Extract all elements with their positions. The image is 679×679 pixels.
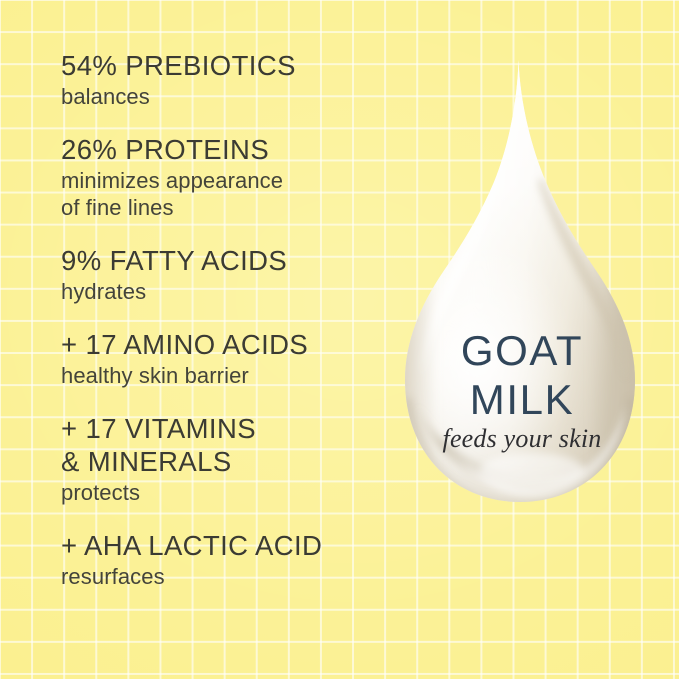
milk-droplet-graphic: GOAT MILK feeds your skin — [392, 58, 652, 550]
ingredient-title: 9% FATTY ACIDS — [61, 244, 381, 277]
ingredient-description: balances — [61, 83, 381, 110]
ingredient-title: + 17 VITAMINS & MINERALS — [61, 412, 381, 478]
ingredient-title: 54% PREBIOTICS — [61, 49, 381, 82]
ingredient-list: 54% PREBIOTICS balances 26% PROTEINS min… — [61, 49, 381, 590]
droplet-lower-glare — [480, 453, 584, 487]
ingredient-description: protects — [61, 479, 381, 506]
ingredient-title: + AHA LACTIC ACID — [61, 529, 381, 562]
ingredient-description: minimizes appearance of fine lines — [61, 167, 381, 221]
list-item: + 17 AMINO ACIDS healthy skin barrier — [61, 328, 381, 389]
poster-canvas: 54% PREBIOTICS balances 26% PROTEINS min… — [0, 0, 679, 679]
ingredient-description: healthy skin barrier — [61, 362, 381, 389]
list-item: 26% PROTEINS minimizes appearance of fin… — [61, 133, 381, 221]
ingredient-description: resurfaces — [61, 563, 381, 590]
list-item: + 17 VITAMINS & MINERALS protects — [61, 412, 381, 506]
list-item: + AHA LACTIC ACID resurfaces — [61, 529, 381, 590]
milk-droplet-icon — [392, 58, 652, 550]
list-item: 9% FATTY ACIDS hydrates — [61, 244, 381, 305]
ingredient-title: + 17 AMINO ACIDS — [61, 328, 381, 361]
ingredient-description: hydrates — [61, 278, 381, 305]
list-item: 54% PREBIOTICS balances — [61, 49, 381, 110]
ingredient-title: 26% PROTEINS — [61, 133, 381, 166]
